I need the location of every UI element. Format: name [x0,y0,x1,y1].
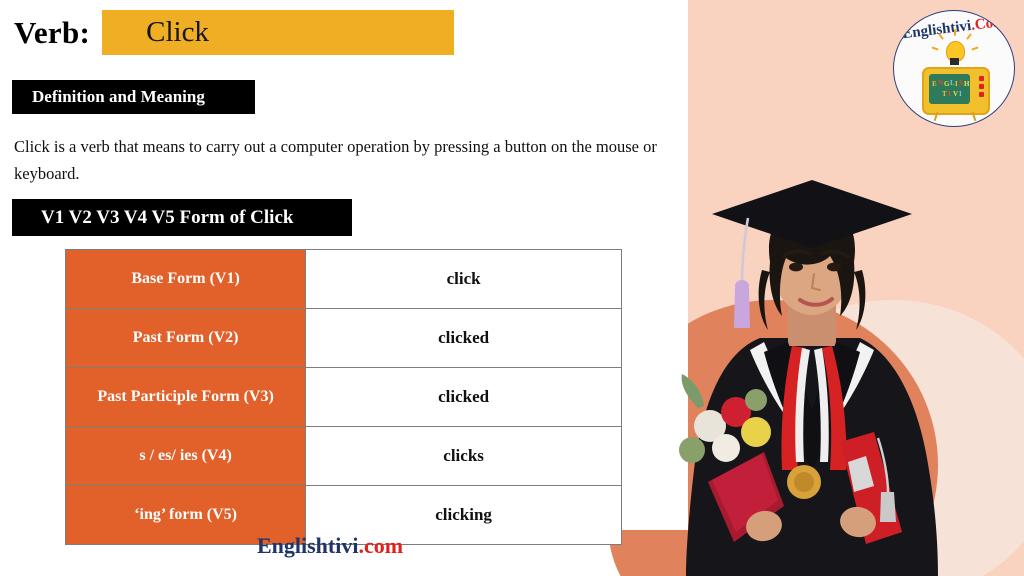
television-icon: E N G L I S H T I V I [922,67,990,115]
englishtivi-logo: Englishtivi.Com E N G L I S H T I V I [893,10,1015,127]
bulb-ray-icon [931,46,938,50]
graduate-woman-photo [652,170,982,576]
tv-letter: I [959,91,962,98]
tv-leg-icon [972,112,977,121]
bulb-ray-icon [954,29,956,36]
logo-brand-tld: .Com [970,14,1006,34]
footer-brand-name: Englishtivi [257,533,358,558]
table-cell-label: Base Form (V1) [66,250,306,309]
infographic-page: Verb: Click Definition and Meaning Click… [0,0,1024,576]
table-cell-label: s / es/ ies (V4) [66,427,306,486]
definition-banner-label: Definition and Meaning [12,87,205,107]
tv-letter: H [964,81,969,88]
table-row: s / es/ ies (V4) clicks [66,427,622,486]
forms-banner-label: V1 V2 V3 V4 V5 Form of Click [12,207,293,229]
lightbulb-base-icon [950,58,959,65]
verb-forms-table: Base Form (V1) click Past Form (V2) clic… [65,249,622,545]
tv-letter: T [942,91,947,98]
tv-letter: I [948,91,951,98]
table-row: Past Form (V2) clicked [66,309,622,368]
verb-value: Click [102,16,209,49]
television-screen: E N G L I S H T I V I [929,74,970,104]
tv-knob-icon [979,84,984,89]
table-cell-value: click [306,250,622,309]
verb-label: Verb: [14,15,90,51]
table-row: Past Participle Form (V3) clicked [66,368,622,427]
table-row: Base Form (V1) click [66,250,622,309]
tv-letter: V [953,91,958,98]
table-cell-label: Past Form (V2) [66,309,306,368]
definition-text: Click is a verb that means to carry out … [14,133,664,187]
tv-knob-icon [979,92,984,97]
tv-letter: L [950,80,955,87]
tv-letter: G [944,81,949,88]
table-cell-value: clicked [306,368,622,427]
tv-letter: N [938,80,943,87]
footer-brand-tld: .com [358,533,403,558]
table-cell-value: clicked [306,309,622,368]
tv-letter: I [955,81,958,88]
bulb-ray-icon [971,46,978,50]
verb-value-highlight: Click [102,10,454,55]
tv-leg-icon [934,112,939,121]
table-cell-label: Past Participle Form (V3) [66,368,306,427]
table-cell-value: clicks [306,427,622,486]
tv-letter: E [932,81,937,88]
verb-header: Verb: Click [14,10,454,55]
footer-brand: Englishtivi.com [0,533,660,559]
forms-banner: V1 V2 V3 V4 V5 Form of Click [12,199,352,236]
tv-letter: S [959,80,963,87]
tv-knob-icon [979,76,984,81]
definition-banner: Definition and Meaning [12,80,255,114]
